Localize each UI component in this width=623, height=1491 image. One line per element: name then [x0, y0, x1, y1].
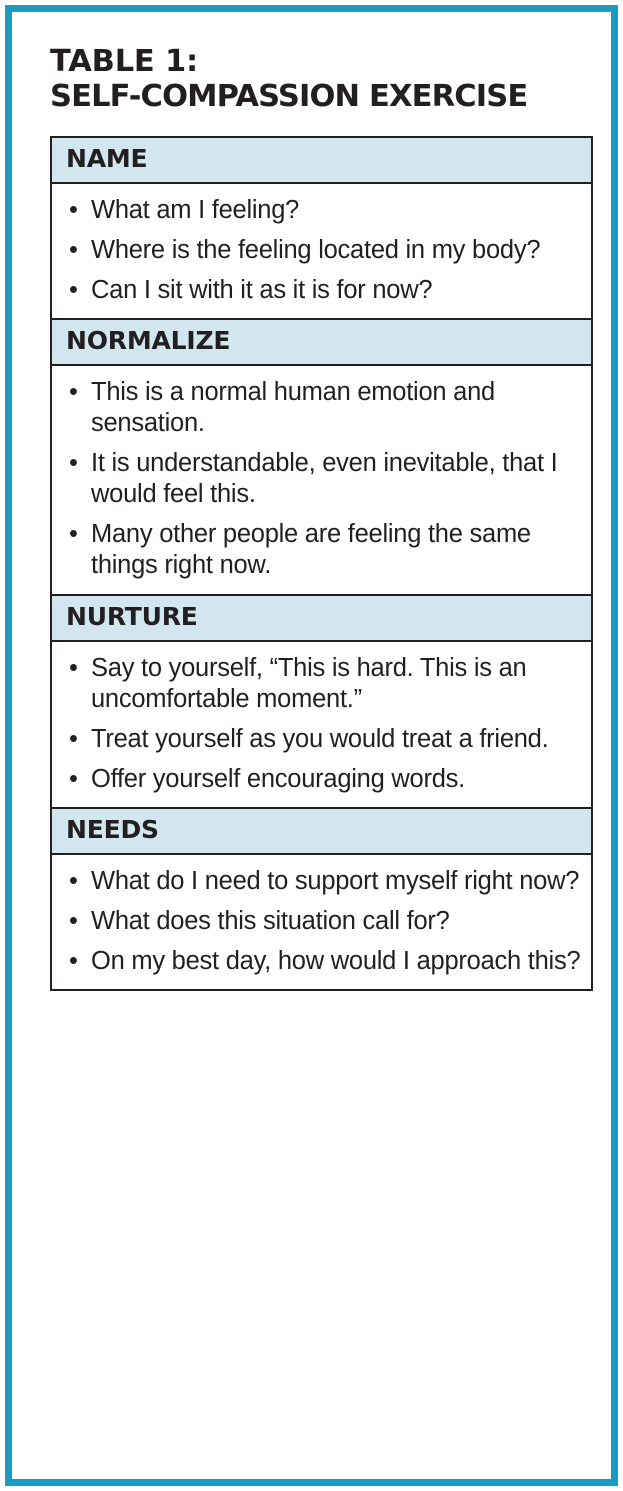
section-body-nurture: •Say to yourself, “This is hard. This is… — [52, 642, 591, 807]
list-item-text: It is understandable, even inevitable, t… — [91, 449, 557, 508]
bullet-list-name: •What am I feeling?•Where is the feeling… — [66, 195, 581, 306]
section-body-normalize: •This is a normal human emotion and sens… — [52, 366, 591, 594]
list-item: •What does this situation call for? — [66, 906, 581, 937]
section-header-normalize: NORMALIZE — [52, 318, 591, 366]
bullet-dot-icon: • — [69, 195, 78, 226]
bullet-list-needs: •What do I need to support myself right … — [66, 866, 581, 977]
list-item-text: This is a normal human emotion and sensa… — [91, 378, 495, 437]
table-section-nurture: NURTURE•Say to yourself, “This is hard. … — [52, 594, 591, 807]
bullet-list-nurture: •Say to yourself, “This is hard. This is… — [66, 653, 581, 795]
list-item-text: Treat yourself as you would treat a frie… — [91, 725, 548, 753]
list-item: •Say to yourself, “This is hard. This is… — [66, 653, 581, 715]
teal-outer-frame: TABLE 1: SELF-COMPASSION EXERCISE NAME•W… — [5, 5, 618, 1486]
section-header-label: NAME — [66, 144, 147, 173]
list-item: •Treat yourself as you would treat a fri… — [66, 724, 581, 755]
list-item-text: Offer yourself encouraging words. — [91, 765, 465, 793]
bullet-dot-icon: • — [69, 377, 78, 408]
section-header-label: NURTURE — [66, 602, 198, 631]
list-item-text: What does this situation call for? — [91, 907, 450, 935]
bullet-dot-icon: • — [69, 448, 78, 479]
page-title: TABLE 1: SELF-COMPASSION EXERCISE — [50, 45, 597, 115]
list-item-text: Can I sit with it as it is for now? — [91, 276, 432, 304]
list-item-text: Where is the feeling located in my body? — [91, 236, 540, 264]
bullet-dot-icon: • — [69, 653, 78, 684]
bullet-dot-icon: • — [69, 764, 78, 795]
list-item-text: What am I feeling? — [91, 196, 299, 224]
list-item: •This is a normal human emotion and sens… — [66, 377, 581, 439]
title-line-1: TABLE 1: — [50, 45, 597, 80]
bullet-dot-icon: • — [69, 946, 78, 977]
table-section-name: NAME•What am I feeling?•Where is the fee… — [52, 138, 591, 318]
list-item: •Where is the feeling located in my body… — [66, 235, 581, 266]
bullet-dot-icon: • — [69, 866, 78, 897]
section-header-name: NAME — [52, 138, 591, 184]
self-compassion-exercise-table: NAME•What am I feeling?•Where is the fee… — [50, 136, 593, 992]
list-item: •Can I sit with it as it is for now? — [66, 275, 581, 306]
section-header-needs: NEEDS — [52, 807, 591, 855]
list-item: •What do I need to support myself right … — [66, 866, 581, 897]
bullet-list-normalize: •This is a normal human emotion and sens… — [66, 377, 581, 582]
section-header-label: NORMALIZE — [66, 326, 230, 355]
content-area: TABLE 1: SELF-COMPASSION EXERCISE NAME•W… — [50, 45, 597, 991]
section-header-nurture: NURTURE — [52, 594, 591, 642]
bullet-dot-icon: • — [69, 906, 78, 937]
list-item: •Many other people are feeling the same … — [66, 519, 581, 581]
bullet-dot-icon: • — [69, 275, 78, 306]
table-section-needs: NEEDS•What do I need to support myself r… — [52, 807, 591, 989]
list-item: •Offer yourself encouraging words. — [66, 764, 581, 795]
list-item-text: On my best day, how would I approach thi… — [91, 947, 580, 975]
table-section-normalize: NORMALIZE•This is a normal human emotion… — [52, 318, 591, 594]
bullet-dot-icon: • — [69, 519, 78, 550]
list-item: •It is understandable, even inevitable, … — [66, 448, 581, 510]
list-item: •What am I feeling? — [66, 195, 581, 226]
section-body-needs: •What do I need to support myself right … — [52, 855, 591, 989]
bullet-dot-icon: • — [69, 235, 78, 266]
section-body-name: •What am I feeling?•Where is the feeling… — [52, 184, 591, 318]
list-item: •On my best day, how would I approach th… — [66, 946, 581, 977]
list-item-text: Say to yourself, “This is hard. This is … — [91, 654, 526, 713]
list-item-text: Many other people are feeling the same t… — [91, 520, 531, 579]
bullet-dot-icon: • — [69, 724, 78, 755]
list-item-text: What do I need to support myself right n… — [91, 867, 579, 895]
section-header-label: NEEDS — [66, 815, 159, 844]
title-line-2: SELF-COMPASSION EXERCISE — [50, 80, 597, 115]
page-root: TABLE 1: SELF-COMPASSION EXERCISE NAME•W… — [0, 0, 623, 1491]
